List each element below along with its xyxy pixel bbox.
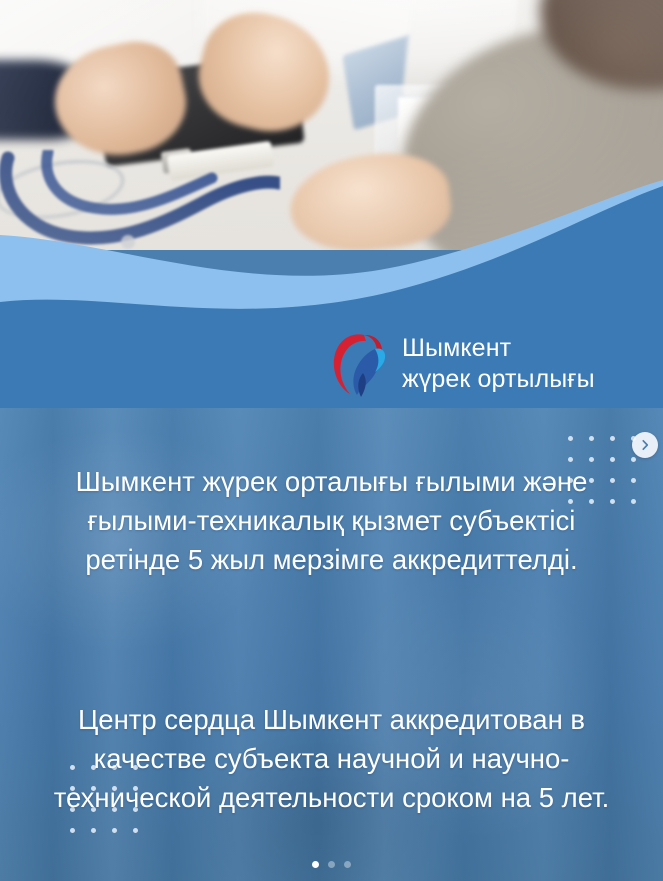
pagination-dot-1[interactable] [312,861,319,868]
carousel-pagination[interactable] [0,861,663,868]
decor-dot [631,457,636,462]
pagination-dot-2[interactable] [328,861,335,868]
decor-dot [91,828,96,833]
decor-dot [631,478,636,483]
chevron-right-icon [638,438,652,452]
brand-logo[interactable]: Шымкент жүрек ортылығы [330,327,595,401]
decor-dot [631,499,636,504]
pagination-dot-3[interactable] [344,861,351,868]
decor-dot [568,436,573,441]
announcement-text-kazakh: Шымкент жүрек орталығы ғылыми және ғылым… [44,462,619,579]
announcement-text-russian: Центр сердца Шымкент аккредитован в каче… [44,700,619,817]
brand-logo-line1: Шымкент [402,334,511,362]
decor-dot [589,436,594,441]
decor-dot [610,436,615,441]
heart-swirl-logo-icon [330,327,388,401]
brand-logo-line2: жүрек ортылығы [402,364,595,396]
slide-container: Шымкент жүрек ортылығы Шымкент жүрек орт… [0,0,663,881]
decor-dot [70,828,75,833]
decor-dot [112,828,117,833]
next-slide-button[interactable] [632,432,658,458]
decor-dot [133,828,138,833]
brand-logo-text: Шымкент жүрек ортылығы [402,333,595,396]
